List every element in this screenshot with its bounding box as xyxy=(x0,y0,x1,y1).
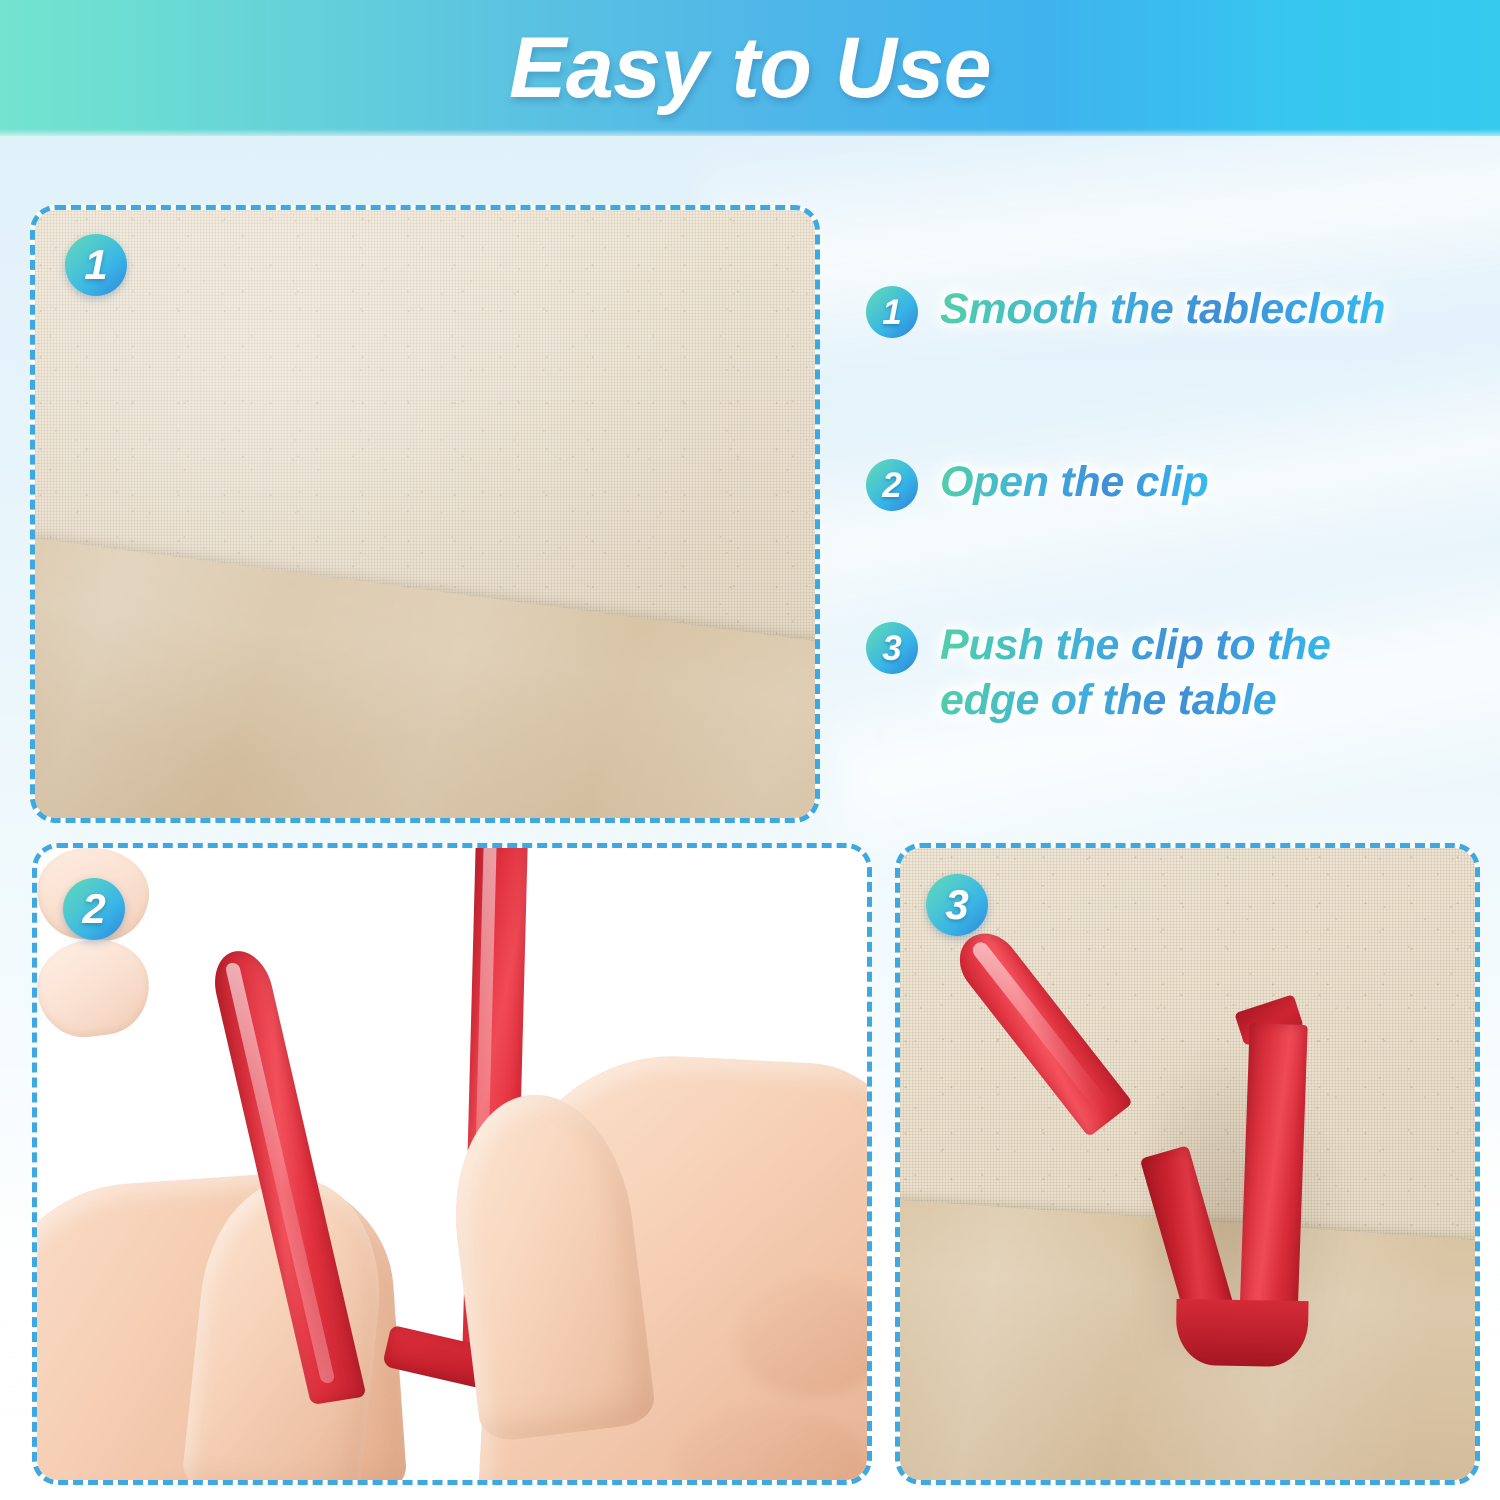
step-number-badge-1: 1 xyxy=(866,286,918,338)
tablecloth-lighting xyxy=(35,210,815,818)
panel-number-badge-3: 3 xyxy=(926,874,988,936)
panel-2-photo xyxy=(37,848,867,1480)
step-item-3: 3 Push the clip to the edge of the table xyxy=(866,618,1331,728)
step-label-1: Smooth the tablecloth xyxy=(940,282,1385,337)
step-label-3: Push the clip to the edge of the table xyxy=(940,618,1331,728)
panel-number-badge-1: 1 xyxy=(65,234,127,296)
panel-3-photo xyxy=(900,848,1475,1480)
clip-bottom-curve xyxy=(1175,1299,1308,1367)
step-label-2: Open the clip xyxy=(940,455,1208,510)
step-number-badge-3: 3 xyxy=(866,622,918,674)
page-title: Easy to Use xyxy=(0,0,1500,136)
step-number-badge-2: 2 xyxy=(866,459,918,511)
panel-1-photo xyxy=(35,210,815,818)
step-item-2: 2 Open the clip xyxy=(866,455,1208,511)
step-photo-panel-3: 3 xyxy=(895,843,1480,1485)
infographic-page: Easy to Use 1 2 xyxy=(0,0,1500,1500)
step-item-1: 1 Smooth the tablecloth xyxy=(866,282,1385,338)
panel-number-badge-2: 2 xyxy=(63,878,125,940)
step-photo-panel-2: 2 xyxy=(32,843,872,1485)
step-photo-panel-1: 1 xyxy=(30,205,820,823)
